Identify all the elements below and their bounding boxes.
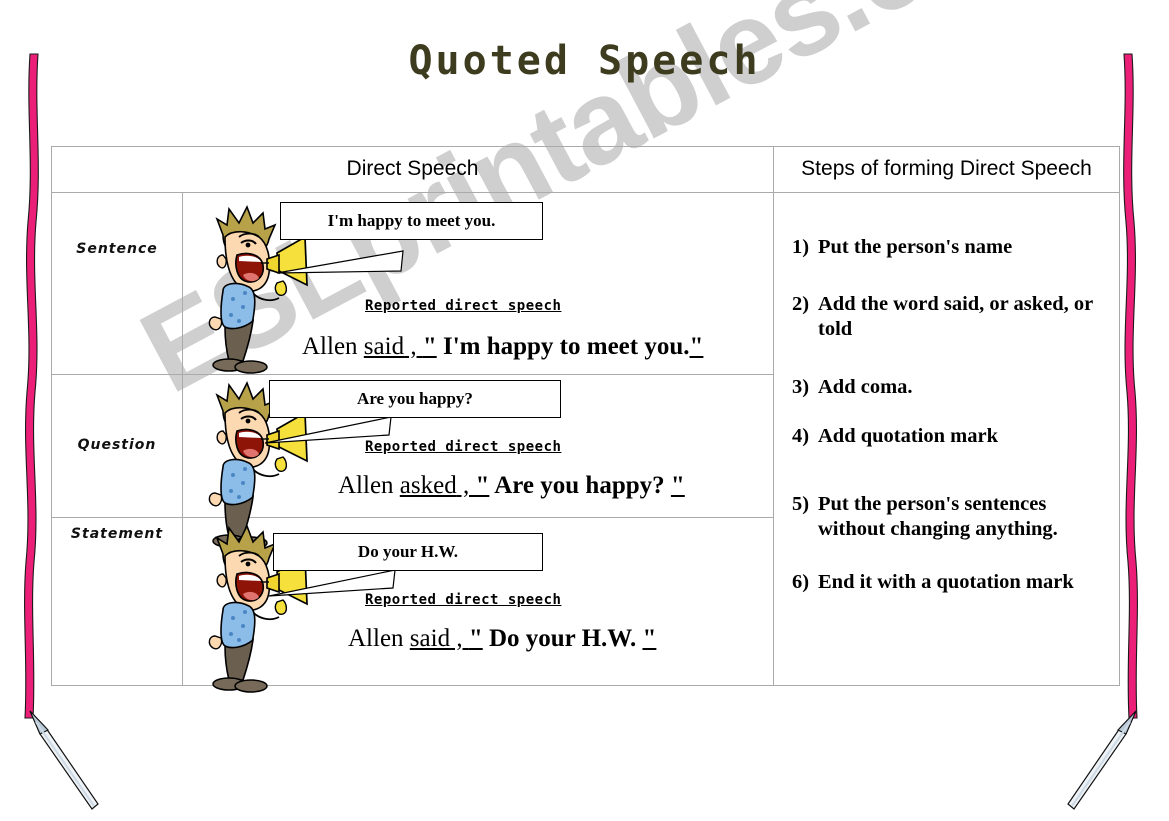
reported-verb: said [364, 333, 404, 360]
pink-marker-stroke-left [14, 52, 50, 722]
reported-verb: said [410, 625, 450, 652]
reported-sentence-row2: Allen asked , " Are you happy? " [338, 472, 685, 500]
table-header-row: Direct Speech Steps of forming Direct Sp… [52, 147, 1120, 193]
page-title: Quoted Speech [0, 38, 1169, 84]
reported-label-sentence: Reported direct speech [365, 298, 561, 314]
row-label-question: Question [52, 375, 183, 518]
speech-bubble-statement: Do your H.W. [273, 533, 543, 571]
reported-sentence-row3: Allen said , " Do your H.W. " [348, 625, 656, 653]
header-steps: Steps of forming Direct Speech [774, 147, 1120, 193]
row-label-statement: Statement [52, 518, 183, 686]
step-number: 2) [792, 292, 818, 342]
reported-label-question: Reported direct speech [365, 439, 561, 455]
speech-bubble-sentence: I'm happy to meet you. [280, 202, 543, 240]
row-label-sentence: Sentence [52, 193, 183, 375]
table-row: Sentence [52, 193, 1120, 375]
step-text: Add coma. [818, 375, 1109, 400]
reported-comma: , [457, 472, 476, 499]
step-text: Put the person's sentences without chang… [818, 492, 1109, 542]
step-item: 3) Add coma. [792, 375, 1109, 400]
step-number: 6) [792, 570, 818, 595]
step-number: 4) [792, 424, 818, 449]
reported-subject: Allen [338, 472, 400, 499]
step-item: 1) Put the person's name [792, 235, 1109, 260]
reported-verb: asked [400, 472, 457, 499]
reported-close-quote: " [671, 472, 685, 499]
row-content-sentence: I'm happy to meet you. Reported direct s… [183, 193, 774, 375]
step-item: 2) Add the word said, or asked, or told [792, 292, 1109, 342]
step-item: 5) Put the person's sentences without ch… [792, 492, 1109, 542]
row-content-question: Are you happy? Reported direct speech Al… [183, 375, 774, 518]
worksheet-table: Direct Speech Steps of forming Direct Sp… [51, 146, 1120, 686]
worksheet-table-wrapper: Direct Speech Steps of forming Direct Sp… [51, 146, 1119, 686]
reported-comma: , [450, 625, 469, 652]
step-text: Put the person's name [818, 235, 1109, 260]
reported-close-quote: " [642, 625, 656, 652]
reported-subject: Allen [302, 333, 364, 360]
step-number: 3) [792, 375, 818, 400]
step-text: End it with a quotation mark [818, 570, 1109, 595]
pen-icon-right [1060, 708, 1140, 813]
reported-quote-text: Do your H.W. [483, 625, 643, 652]
reported-quote-text: Are you happy? [489, 472, 671, 499]
reported-open-quote: " [423, 333, 437, 360]
steps-column: 1) Put the person's name 2) Add the word… [774, 193, 1120, 686]
row-content-statement: Do your H.W. Reported direct speech Alle… [183, 518, 774, 686]
step-text: Add quotation mark [818, 424, 1109, 449]
reported-open-quote: " [469, 625, 483, 652]
speech-bubble-question: Are you happy? [269, 380, 561, 418]
reported-comma: , [404, 333, 423, 360]
reported-open-quote: " [475, 472, 489, 499]
step-number: 5) [792, 492, 818, 542]
pen-icon-left [26, 708, 106, 813]
step-item: 4) Add quotation mark [792, 424, 1109, 449]
reported-close-quote: " [690, 333, 704, 360]
reported-sentence-row1: Allen said , " I'm happy to meet you." [302, 333, 703, 361]
header-direct-speech: Direct Speech [52, 147, 774, 193]
step-number: 1) [792, 235, 818, 260]
speech-bubble-tail [275, 249, 405, 279]
reported-label-statement: Reported direct speech [365, 592, 561, 608]
reported-subject: Allen [348, 625, 410, 652]
reported-quote-text: I'm happy to meet you. [437, 333, 690, 360]
worksheet-page: ESLprintables.com Quoted Speech [0, 0, 1169, 821]
step-item: 6) End it with a quotation mark [792, 570, 1109, 595]
step-text: Add the word said, or asked, or told [818, 292, 1109, 342]
